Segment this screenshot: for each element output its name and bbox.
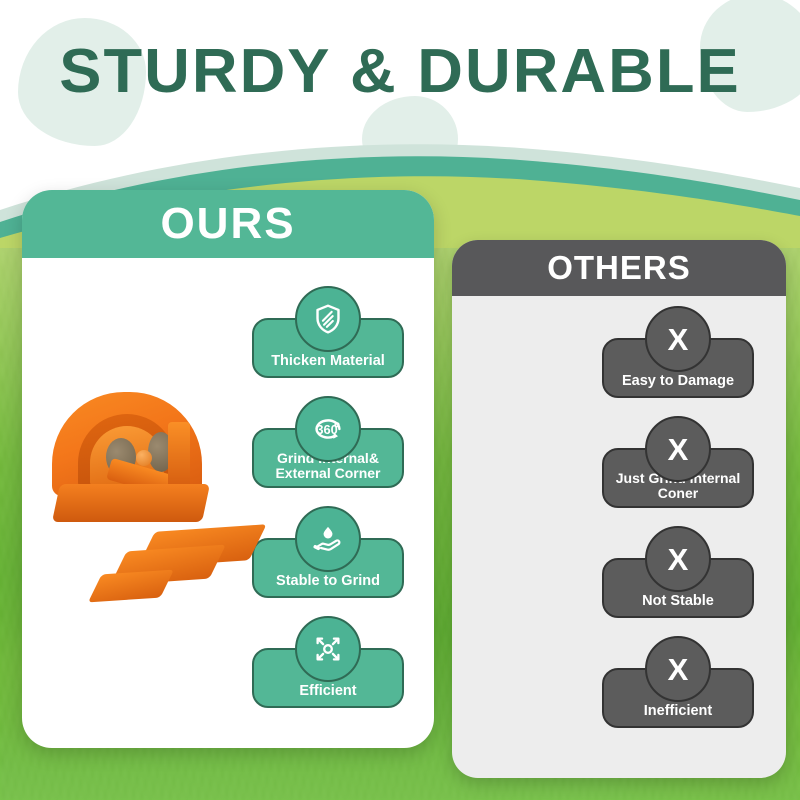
ours-feature-0[interactable]: Thicken Material bbox=[252, 318, 404, 378]
ours-feature-1[interactable]: 360 Grind Internal& External Corner bbox=[252, 428, 404, 488]
others-feature-label-0: Easy to Damage bbox=[622, 374, 734, 389]
others-feature-3[interactable]: X Inefficient bbox=[602, 668, 754, 728]
ours-heading: OURS bbox=[22, 190, 434, 258]
shield-icon bbox=[295, 286, 361, 352]
ours-feature-label-1-line2: External Corner bbox=[275, 465, 380, 481]
x-mark-icon: X bbox=[645, 636, 711, 702]
infographic-stage: STURDY & DURABLE OTHERS X Easy to Damage… bbox=[0, 0, 800, 800]
hand-droplet-icon bbox=[295, 506, 361, 572]
x-mark-icon: X bbox=[645, 306, 711, 372]
ours-feature-2[interactable]: Stable to Grind bbox=[252, 538, 404, 598]
others-heading: OTHERS bbox=[452, 240, 786, 296]
others-card: OTHERS X Easy to Damage X Just Grind Int… bbox=[452, 240, 786, 778]
others-feature-label-1-line2: Coner bbox=[658, 485, 698, 501]
page-title: STURDY & DURABLE bbox=[0, 36, 800, 107]
others-feature-label-2: Not Stable bbox=[642, 594, 714, 609]
ours-feature-3[interactable]: Efficient bbox=[252, 648, 404, 708]
others-feature-2[interactable]: X Not Stable bbox=[602, 558, 754, 618]
360-degree-icon: 360 bbox=[295, 396, 361, 462]
ours-feature-label-3: Efficient bbox=[299, 684, 356, 699]
ours-feature-label-0: Thicken Material bbox=[271, 354, 385, 369]
ours-feature-label-2: Stable to Grind bbox=[276, 574, 380, 589]
others-feature-1[interactable]: X Just Grind Internal Coner bbox=[602, 448, 754, 508]
four-way-arrows-icon bbox=[295, 616, 361, 682]
x-mark-icon: X bbox=[645, 416, 711, 482]
others-feature-0[interactable]: X Easy to Damage bbox=[602, 338, 754, 398]
x-mark-icon: X bbox=[645, 526, 711, 592]
others-feature-label-3: Inefficient bbox=[644, 704, 712, 719]
